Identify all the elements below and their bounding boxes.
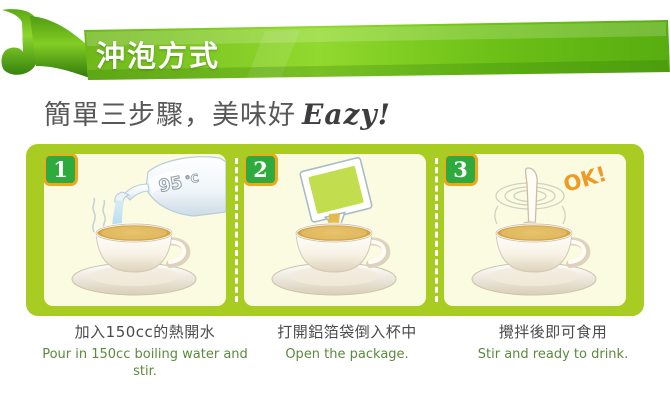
step-panel-1: 95 °C — [44, 154, 226, 306]
ribbon-header: 沖泡方式 — [0, 6, 670, 88]
step-caption-1-en: Pour in 150cc boiling water and stir. — [42, 346, 248, 381]
step-panel-3: OK! 3 — [444, 154, 626, 306]
step-caption-1: 加入150cc的熱開水 Pour in 150cc boiling water … — [42, 322, 248, 381]
step-caption-2-en: Open the package. — [244, 346, 450, 364]
step-caption-3-en: Stir and ready to drink. — [450, 346, 656, 364]
annotation-ok: OK! — [561, 162, 610, 197]
step-caption-2-zh: 打開鋁箔袋倒入杯中 — [244, 322, 450, 344]
step-badge-1: 1 — [44, 154, 78, 186]
annotation-temperature-unit: °C — [184, 172, 200, 187]
panel-divider-2 — [435, 158, 438, 302]
step-badge-2: 2 — [244, 154, 278, 186]
panel-divider-1 — [235, 158, 238, 302]
step-caption-2: 打開鋁箔袋倒入杯中 Open the package. — [244, 322, 450, 363]
subtitle-zh: 簡單三步驟，美味好 — [44, 100, 296, 131]
step-caption-1-zh: 加入150cc的熱開水 — [42, 322, 248, 344]
steps-band: 95 °C — [26, 144, 644, 316]
step-badge-3: 3 — [444, 154, 478, 186]
page-title: 沖泡方式 — [96, 42, 220, 71]
subtitle-accent: Eazy! — [302, 98, 391, 131]
step-caption-3-zh: 攪拌後即可食用 — [450, 322, 656, 344]
step-caption-3: 攪拌後即可食用 Stir and ready to drink. — [450, 322, 656, 363]
step-panel-2: 2 — [244, 154, 426, 306]
subtitle: 簡單三步驟，美味好Eazy! — [44, 99, 391, 131]
ribbon-fold — [30, 16, 90, 78]
